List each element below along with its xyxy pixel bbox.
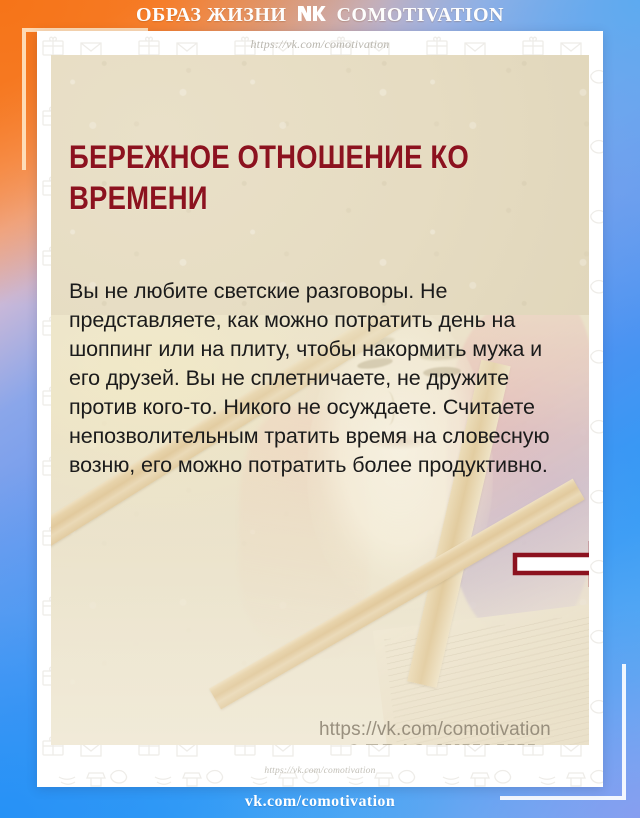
- footer-bar: vk.com/comotivation: [0, 785, 640, 818]
- image-watermark-url: https://vk.com/comotivation: [319, 719, 551, 741]
- card-url-bottom: https://vk.com/comotivation: [37, 766, 603, 776]
- post-body-text: Вы не любите светские разговоры. Не пред…: [69, 277, 569, 480]
- card-url-top: https://vk.com/comotivation: [37, 37, 603, 52]
- post-content-area: https://vk.com/comotivation ОБРАЗ ЖИЗНИ …: [51, 55, 589, 745]
- poster-root: ОБРАЗ ЖИЗНИ COMOTIVATION: [0, 0, 640, 818]
- header-brand-left: ОБРАЗ ЖИЗНИ: [136, 5, 286, 25]
- header-brand-right: COMOTIVATION: [336, 5, 504, 25]
- post-card: https://vk.com/comotivation https://vk.c…: [37, 31, 603, 787]
- right-arrow-icon: [512, 541, 589, 587]
- vk-logo-icon: [296, 4, 326, 27]
- header-brandbar: ОБРАЗ ЖИЗНИ COMOTIVATION: [0, 0, 640, 30]
- footer-url: vk.com/comotivation: [245, 793, 395, 811]
- page-title: БЕРЕЖНОЕ ОТНОШЕНИЕ КО ВРЕМЕНИ: [69, 137, 473, 219]
- image-watermark-brand: ОБРАЗ ЖИЗНИ: [343, 739, 535, 745]
